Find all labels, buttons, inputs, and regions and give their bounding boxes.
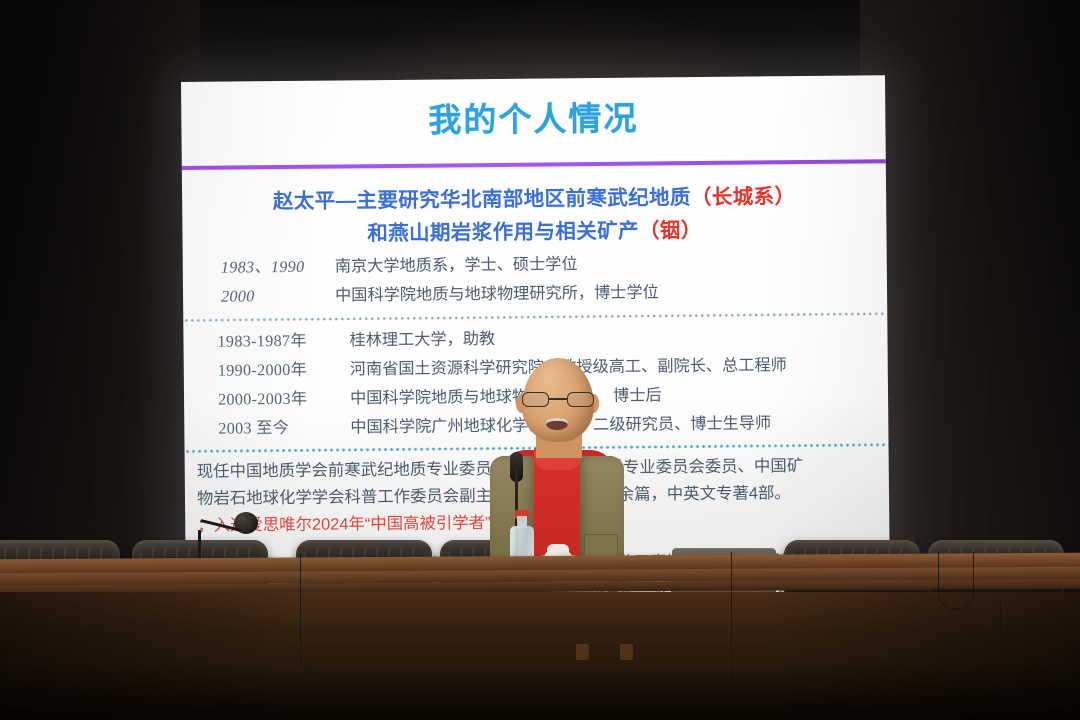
career-years: 1990-2000年 (218, 355, 350, 385)
desk-front-panel (0, 592, 1080, 720)
career-years: 2003 至今 (218, 413, 350, 443)
career-years: 1983-1987年 (217, 326, 349, 356)
education-detail: 中国科学院地质与地球物理研究所，博士学位 (335, 279, 659, 311)
hall-wall-left (0, 0, 200, 620)
eyeglasses-icon (520, 392, 596, 408)
education-block: 1983、1990 南京大学地质系，学士、硕士学位 2000 中国科学院地质与地… (183, 248, 888, 312)
headline-line-1-accent: （长城系） (691, 185, 796, 209)
hanging-cable (938, 552, 974, 610)
headline-line-2: 和燕山期岩浆作用与相关矿产（铟） (188, 212, 880, 252)
slide-title: 我的个人情况 (181, 75, 886, 144)
hanging-cable (706, 552, 732, 702)
lecture-hall-photo: 我的个人情况 赵太平—主要研究华北南部地区前寒武纪地质（长城系） 和燕山期岩浆作… (0, 0, 1080, 720)
education-detail: 南京大学地质系，学士、硕士学位 (335, 251, 578, 282)
career-detail: 桂林理工大学，助教 (349, 325, 495, 355)
headline-line-2-main: 和燕山期岩浆作用与相关矿产 (367, 220, 639, 246)
hanging-cable (1000, 600, 1018, 710)
hanging-cable (300, 554, 316, 674)
dotted-separator-1 (183, 312, 887, 322)
education-row: 2000 中国科学院地质与地球物理研究所，博士学位 (217, 276, 887, 311)
education-years: 1983、1990 (217, 253, 335, 283)
conference-desk (0, 552, 1080, 720)
hall-wall-right (860, 0, 1080, 600)
career-years: 2000-2003年 (218, 384, 350, 414)
desk-panel-seam (620, 644, 633, 660)
headline-line-1: 赵太平—主要研究华北南部地区前寒武纪地质（长城系） (188, 179, 880, 219)
education-years: 2000 (217, 282, 335, 312)
slide-headline: 赵太平—主要研究华北南部地区前寒武纪地质（长城系） 和燕山期岩浆作用与相关矿产（… (182, 163, 887, 254)
desk-panel-seam (576, 644, 589, 660)
lens-right (567, 392, 594, 407)
lens-left (522, 392, 549, 407)
headline-line-1-main: 赵太平—主要研究华北南部地区前寒武纪地质 (273, 186, 691, 213)
lens-bridge (549, 398, 567, 400)
headline-line-2-accent: （铟） (639, 219, 702, 243)
mouth-speaking (546, 418, 568, 430)
